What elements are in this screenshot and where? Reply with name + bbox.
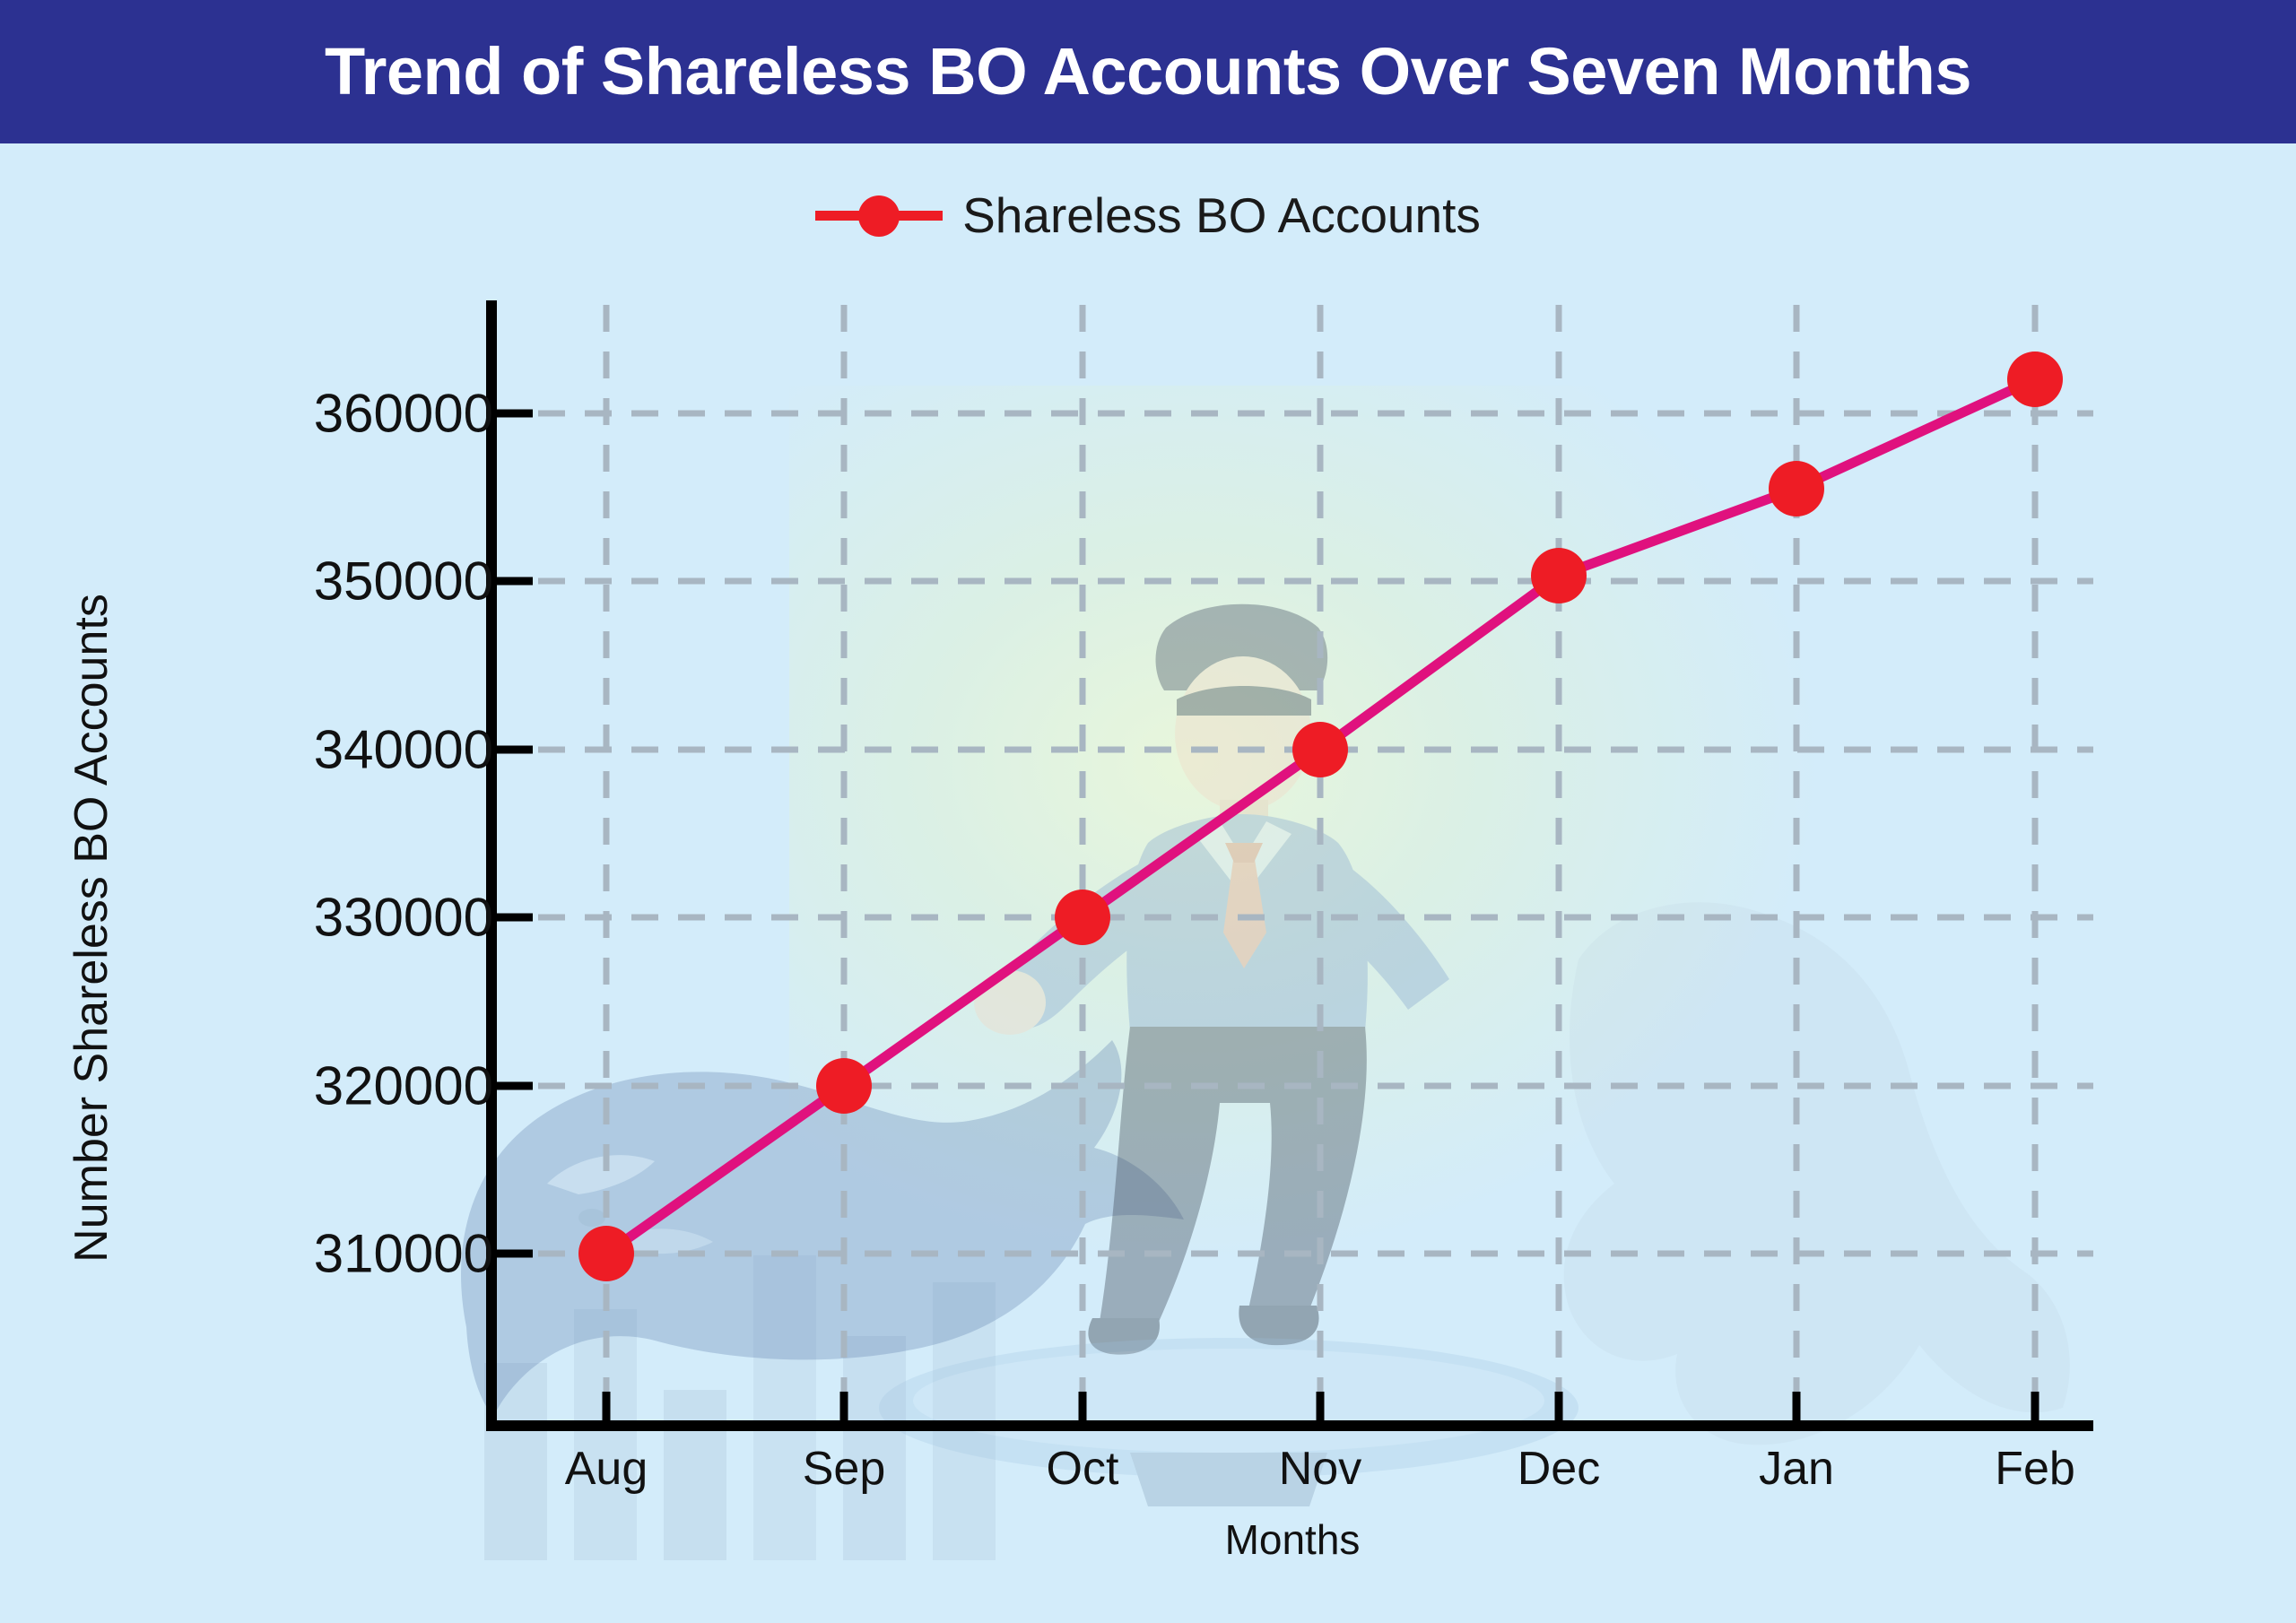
y-tick-label-340000: 340000 <box>314 719 493 781</box>
y-tick-marks <box>491 413 533 1254</box>
y-tick-label-330000: 330000 <box>314 887 493 949</box>
y-tick-label-310000: 310000 <box>314 1223 493 1285</box>
x-tick-label-nov: Nov <box>1279 1442 1361 1496</box>
y-tick-label-360000: 360000 <box>314 383 493 445</box>
page-title: Trend of Shareless BO Accounts Over Seve… <box>0 0 2296 143</box>
data-point-oct <box>1055 890 1110 945</box>
data-point-dec <box>1531 548 1587 603</box>
data-markers <box>578 352 2063 1281</box>
x-tick-label-dec: Dec <box>1518 1442 1600 1496</box>
y-tick-label-320000: 320000 <box>314 1055 493 1117</box>
data-point-jan <box>1769 461 1824 516</box>
chart-legend: Shareless BO Accounts <box>0 166 2296 265</box>
data-point-nov <box>1292 722 1348 777</box>
y-gridlines <box>491 413 2093 1254</box>
x-tick-label-aug: Aug <box>565 1442 648 1496</box>
x-tick-label-jan: Jan <box>1759 1442 1834 1496</box>
legend-item-shareless-bo-accounts[interactable]: Shareless BO Accounts <box>815 187 1481 244</box>
header-bar: Trend of Shareless BO Accounts Over Seve… <box>0 0 2296 143</box>
y-axis-title: Number Shareless BO Accounts <box>65 354 118 1502</box>
x-axis-title: Months <box>490 1515 2095 1564</box>
y-tick-label-350000: 350000 <box>314 551 493 612</box>
data-point-sep <box>816 1058 872 1114</box>
legend-label: Shareless BO Accounts <box>962 187 1481 244</box>
x-tick-label-oct: Oct <box>1047 1442 1119 1496</box>
data-point-aug <box>578 1226 634 1281</box>
x-tick-label-sep: Sep <box>803 1442 886 1496</box>
data-point-feb <box>2007 352 2063 407</box>
x-tick-label-feb: Feb <box>1995 1442 2075 1496</box>
chart-root: Trend of Shareless BO Accounts Over Seve… <box>0 0 2296 1623</box>
legend-line-marker-icon <box>815 191 943 239</box>
